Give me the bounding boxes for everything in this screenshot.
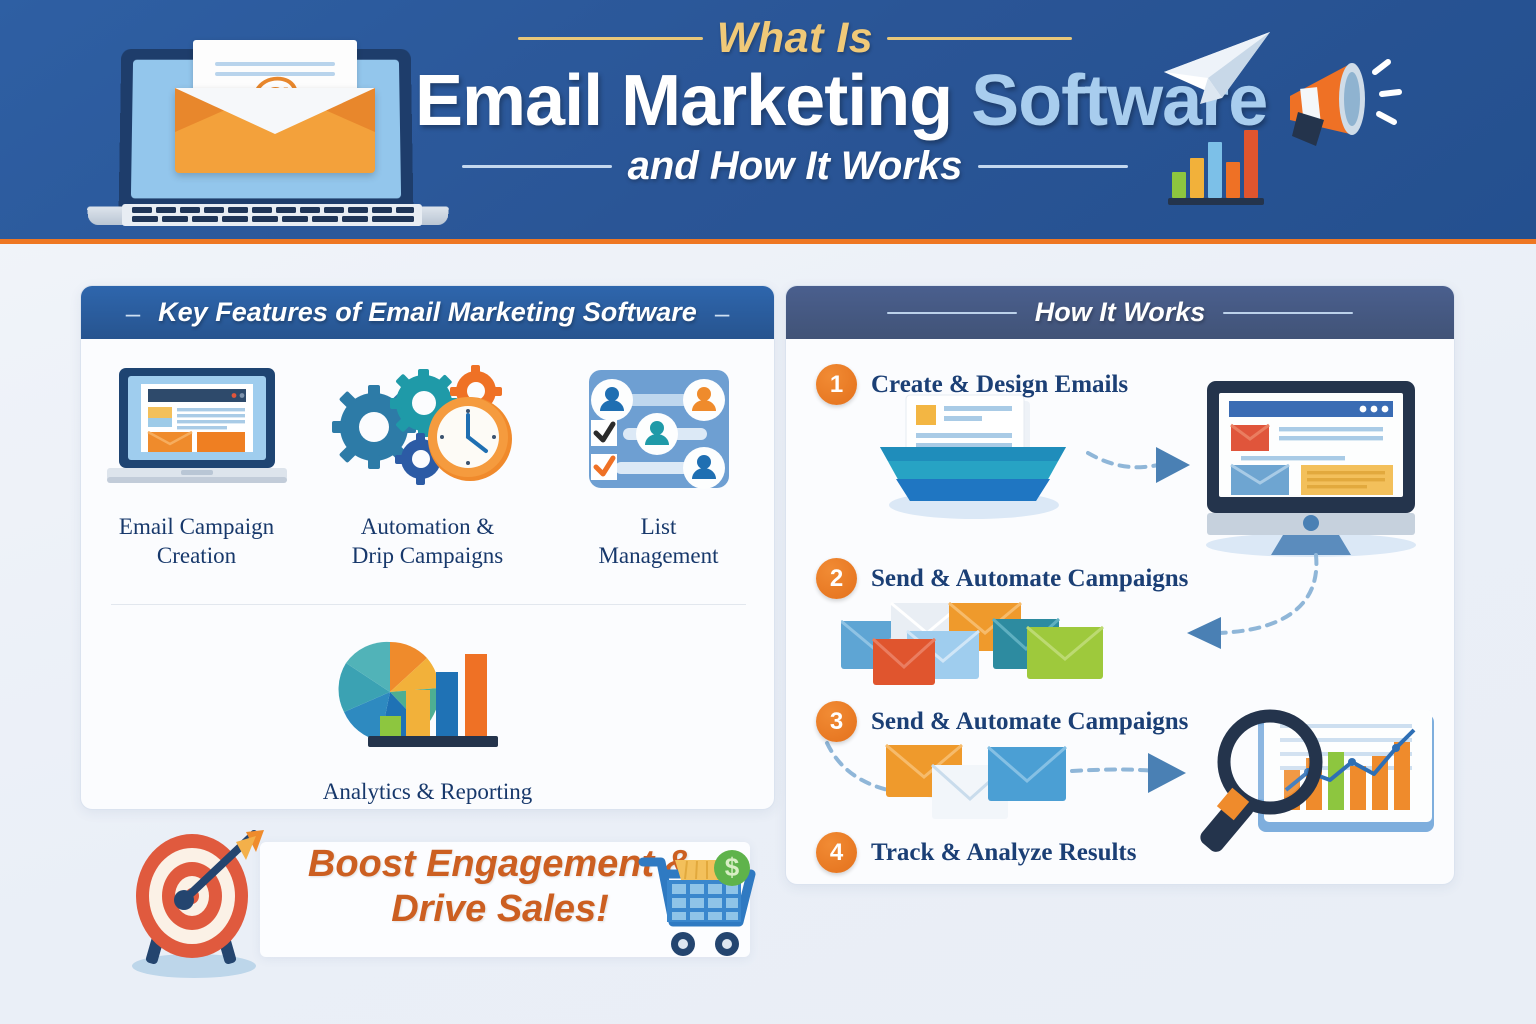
header-rule-right <box>887 37 1072 40</box>
features-row-2: Analytics & Reporting <box>81 626 774 806</box>
desktop-monitor-icon <box>1191 377 1431 557</box>
step-number-badge: 2 <box>816 558 857 599</box>
feature-label-line1: List <box>598 512 718 541</box>
step-2[interactable]: 2 Send & Automate Campaigns <box>816 558 1188 599</box>
feature-label-line1: Automation & <box>352 512 503 541</box>
feature-analytics-reporting[interactable]: Analytics & Reporting <box>81 626 774 806</box>
subtitle-rule-left <box>462 165 612 168</box>
step-number-badge: 1 <box>816 364 857 405</box>
feature-list-management[interactable]: List Management <box>543 361 774 571</box>
step-label: Send & Automate Campaigns <box>871 565 1188 593</box>
bar-chart-icon <box>1168 125 1264 205</box>
magnifier-chart-icon <box>1196 704 1446 884</box>
cta-banner: Boost Engagement & Drive Sales! $ <box>100 820 780 990</box>
megaphone-icon <box>1272 48 1422 158</box>
steps-artwork <box>786 339 1456 886</box>
envelope-at-icon: @ <box>175 40 375 175</box>
gears-clock-icon <box>328 361 528 496</box>
step-label: Create & Design Emails <box>871 371 1128 399</box>
target-arrow-icon <box>128 830 263 975</box>
key-features-title: Key Features of Email Marketing Software <box>158 297 697 328</box>
how-it-works-panel: How It Works <box>785 285 1455 885</box>
arrow-right-1-icon <box>1086 439 1206 484</box>
inbox-tray-icon <box>866 391 1081 521</box>
feature-label: Automation & Drip Campaigns <box>352 512 503 571</box>
feature-label-line2: Creation <box>119 541 274 570</box>
how-it-works-title: How It Works <box>1035 297 1206 328</box>
shopping-cart-dollar-icon: $ <box>635 848 755 958</box>
feature-label: Analytics & Reporting <box>323 777 533 806</box>
features-row-1: Email Campaign Creation <box>81 361 774 571</box>
svg-text:$: $ <box>725 852 740 882</box>
pie-bar-chart-icon <box>328 626 528 761</box>
step-label: Track & Analyze Results <box>871 839 1137 867</box>
features-divider <box>111 604 746 605</box>
header-dash-left: – <box>126 300 140 326</box>
key-features-panel: – Key Features of Email Marketing Softwa… <box>80 285 775 810</box>
header-dash-right: – <box>715 300 729 326</box>
subtitle-rule-right <box>978 165 1128 168</box>
envelopes-group-icon <box>841 599 1151 699</box>
header-eyebrow: What Is <box>717 14 873 63</box>
feature-email-campaign-creation[interactable]: Email Campaign Creation <box>81 361 312 571</box>
feature-label-line1: Email Campaign <box>119 512 274 541</box>
laptop-envelope-icon: @ <box>80 18 470 244</box>
feature-automation-drip-campaigns[interactable]: Automation & Drip Campaigns <box>312 361 543 571</box>
header-titles: What Is Email Marketing Software and How… <box>415 14 1175 189</box>
feature-label: List Management <box>598 512 718 571</box>
step-4[interactable]: 4 Track & Analyze Results <box>816 832 1137 873</box>
step-number-badge: 3 <box>816 701 857 742</box>
feature-label-line1: Analytics & Reporting <box>323 777 533 806</box>
feature-label-line2: Management <box>598 541 718 570</box>
page-header: @ What Is Email Marketing Software and H… <box>0 0 1536 244</box>
page-title-main: Email Marketing <box>415 61 971 141</box>
laptop-email-builder-icon <box>97 361 297 496</box>
header-rule-left <box>518 37 703 40</box>
page-title: Email Marketing Software <box>415 65 1175 138</box>
feature-label: Email Campaign Creation <box>119 512 274 571</box>
paper-plane-icon <box>1160 30 1270 100</box>
key-features-panel-header: – Key Features of Email Marketing Softwa… <box>81 286 774 339</box>
step-number-badge: 4 <box>816 832 857 873</box>
feature-label-line2: Drip Campaigns <box>352 541 503 570</box>
contact-list-icon <box>571 361 746 496</box>
how-it-works-panel-header: How It Works <box>786 286 1454 339</box>
step-1[interactable]: 1 Create & Design Emails <box>816 364 1128 405</box>
infographic-page: @ What Is Email Marketing Software and H… <box>0 0 1536 1024</box>
step-3[interactable]: 3 Send & Automate Campaigns <box>816 701 1188 742</box>
panel-rule-right <box>1223 312 1353 314</box>
page-subtitle: and How It Works <box>628 144 963 189</box>
panel-rule-left <box>887 312 1017 314</box>
step-label: Send & Automate Campaigns <box>871 708 1188 736</box>
